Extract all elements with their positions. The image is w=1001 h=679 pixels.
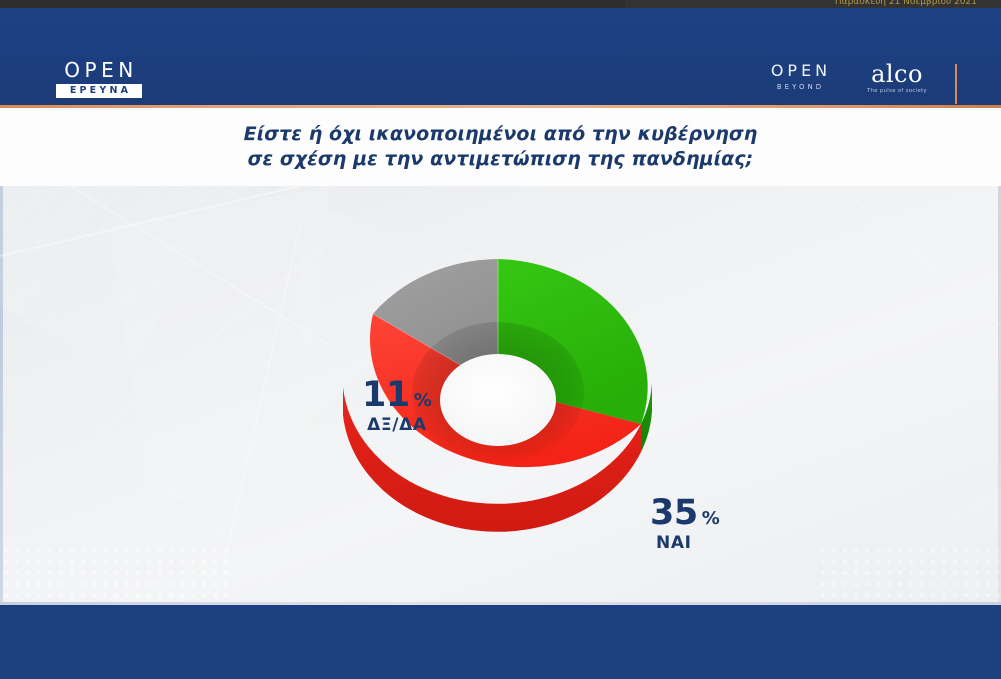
logo-divider — [955, 64, 957, 104]
open-ereyna-logo: OPEN EPEYNA — [56, 60, 142, 98]
ereyna-wordmark: EPEYNA — [56, 84, 142, 98]
callout-yes-value: 35 — [650, 493, 698, 533]
callout-yes-percent: % — [702, 508, 720, 529]
callout-dk: 11% ΔΞ/ΔΑ — [362, 378, 432, 434]
alco-wordmark: alco — [859, 62, 935, 86]
footer-band — [0, 605, 1001, 679]
callout-dk-percent: % — [414, 390, 432, 411]
dot-texture-bottom-right — [819, 547, 999, 605]
chrome-ticker-text: Παρασκευή 21 Νοεμβρίου 2021 — [835, 0, 977, 7]
alco-tagline: The pulse of society — [859, 87, 935, 95]
alco-logo: alco The pulse of society — [859, 62, 935, 95]
question-line-2: σε σχέση με την αντιμετώπιση της πανδημί… — [244, 147, 758, 172]
open-wordmark: OPEN — [56, 60, 142, 80]
broadcast-chrome-strip: Παρασκευή 21 Νοεμβρίου 2021 — [0, 0, 1001, 8]
callout-dk-value: 11 — [362, 375, 410, 415]
callout-yes: 35% ΝΑΙ — [650, 496, 720, 552]
poll-graphic: Παρασκευή 21 Νοεμβρίου 2021 OPEN EPEYNA … — [0, 0, 1001, 679]
poll-question: Είστε ή όχι ικανοποιημένοι από την κυβέρ… — [244, 122, 758, 172]
open-beyond-subtitle: BEYOND — [755, 82, 843, 92]
question-line-1: Είστε ή όχι ικανοποιημένοι από την κυβέρ… — [244, 122, 758, 147]
chart-stage: 11% ΔΞ/ΔΑ 35% ΝΑΙ 54% ΟΧΙ — [0, 186, 1001, 605]
question-band: Είστε ή όχι ικανοποιημένοι από την κυβέρ… — [0, 108, 1001, 186]
callout-yes-label: ΝΑΙ — [650, 535, 720, 552]
chrome-left-segment — [0, 0, 625, 8]
open-beyond-logo: OPEN BEYOND — [755, 62, 843, 92]
open-beyond-wordmark: OPEN — [755, 62, 843, 79]
callout-dk-label: ΔΞ/ΔΑ — [362, 417, 432, 434]
dot-texture-bottom-left — [2, 547, 232, 605]
partner-logo-cluster: OPEN BEYOND alco The pulse of society — [755, 62, 957, 104]
